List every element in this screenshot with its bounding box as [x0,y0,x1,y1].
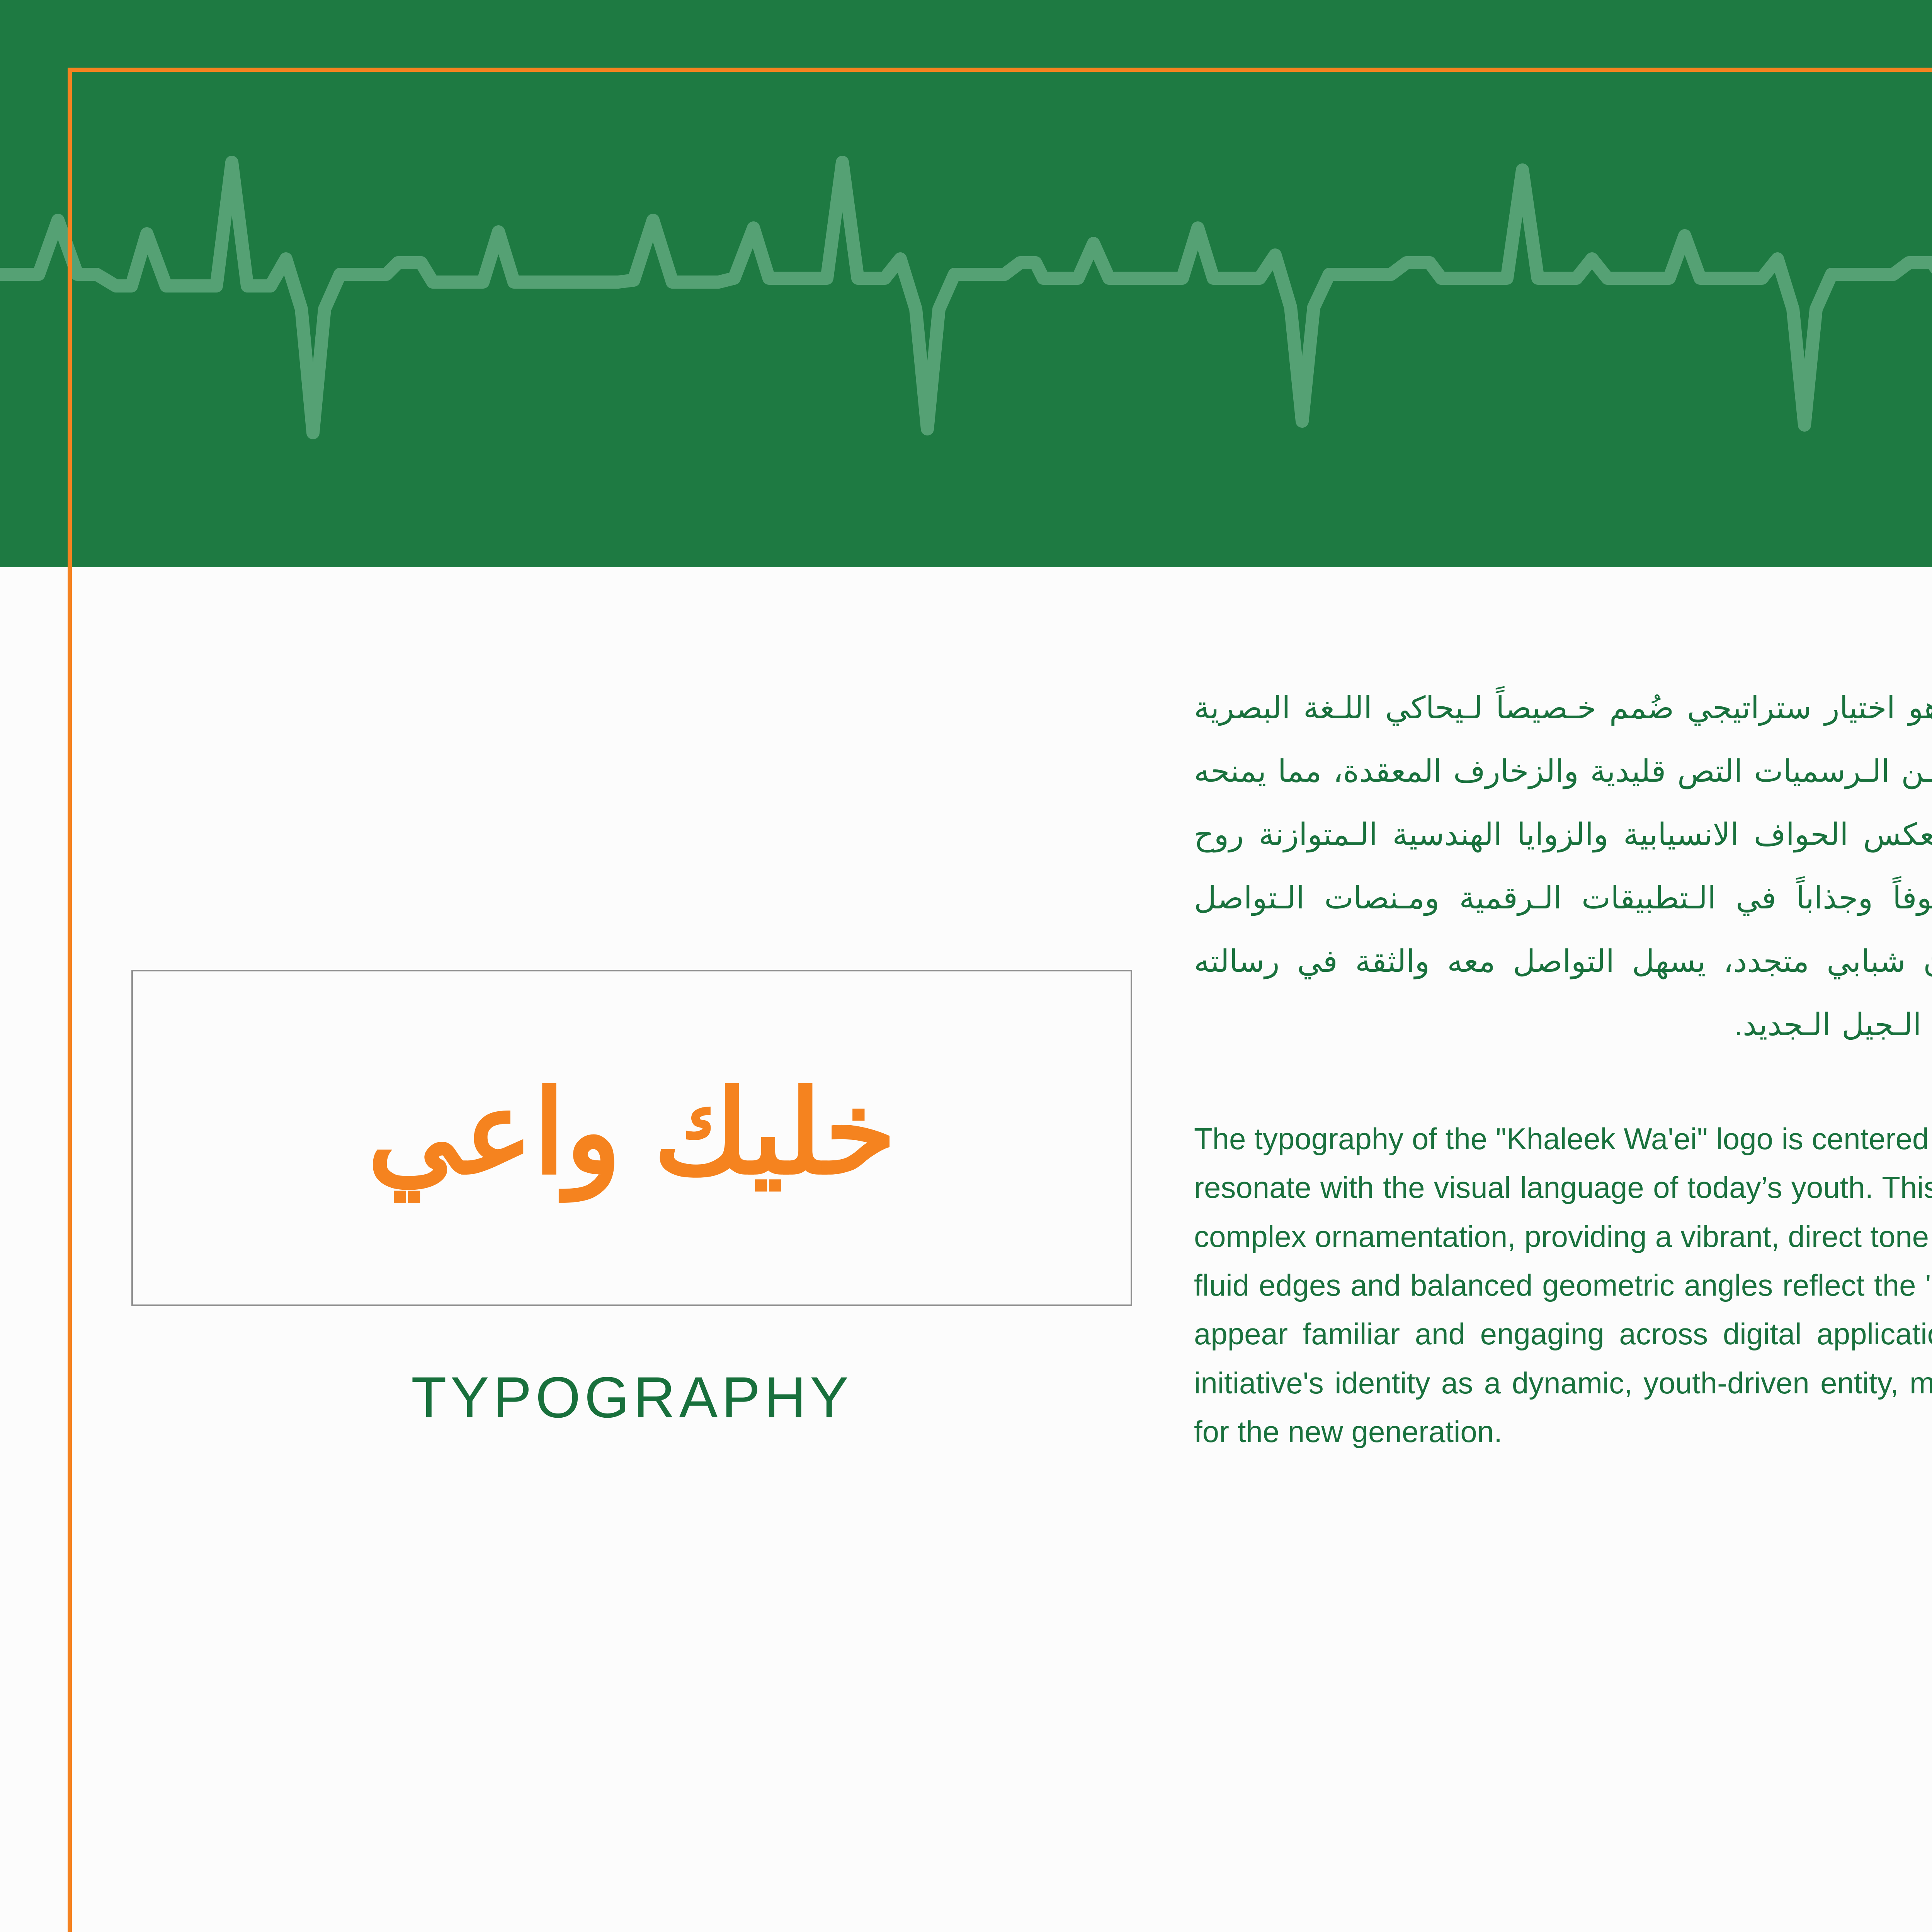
body-copy-column: يـرتكز الـتايبوجرافي في شعار "خليك واعي"… [1194,645,1932,1486]
header-band: التايبوغرافي Typography [0,0,1932,567]
page-canvas: التايبوغرافي Typography مستقل mostaql.co… [0,0,1932,1932]
logo-sample-column: خليك واعي TYPOGRAPHY [131,970,1132,1431]
logo-caption: TYPOGRAPHY [131,1364,1132,1431]
logo-wordmark: خليك واعي [367,1075,896,1190]
heartbeat-line-icon [0,93,1932,440]
english-body-paragraph: The typography of the "Khaleek Wa'ei" lo… [1194,1114,1932,1456]
arabic-body-paragraph: يـرتكز الـتايبوجرافي في شعار "خليك واعي"… [1194,676,1932,1056]
logo-specimen-box: خليك واعي [131,970,1132,1306]
